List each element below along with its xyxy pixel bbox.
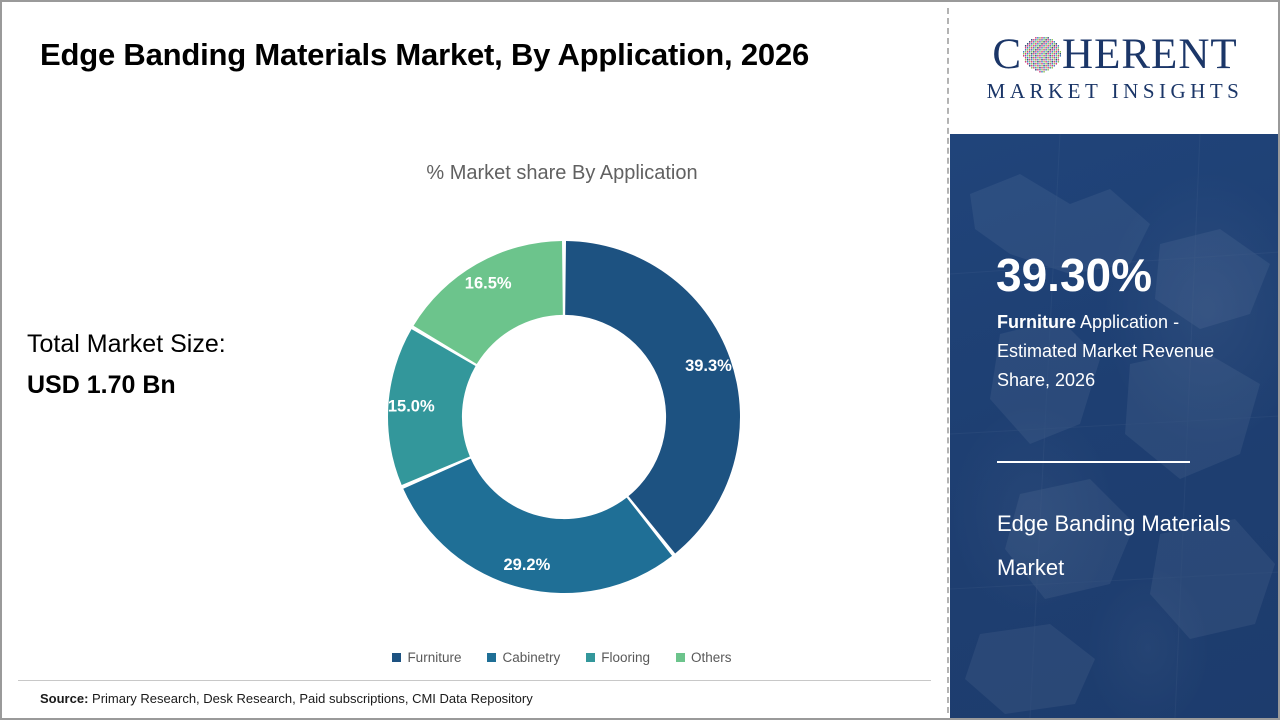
legend-swatch-icon: [392, 653, 401, 662]
donut-slice-label: 39.3%: [685, 357, 732, 375]
panel-divider: [947, 8, 949, 713]
chart-legend: FurnitureCabinetryFlooringOthers: [302, 650, 822, 665]
brand-logo: C HERENT MARKET INSIGHTS: [950, 2, 1280, 134]
logo-word-herent: HERENT: [1062, 33, 1238, 76]
right-sidebar: C HERENT MARKET INSIGHTS: [950, 2, 1280, 718]
total-market-size-value: USD 1.70 Bn: [27, 365, 226, 406]
source-note: Source: Primary Research, Desk Research,…: [40, 691, 533, 706]
infographic-page: Edge Banding Materials Market, By Applic…: [0, 0, 1280, 720]
legend-item: Others: [676, 650, 732, 665]
legend-swatch-icon: [586, 653, 595, 662]
total-market-size-label: Total Market Size:: [27, 324, 226, 365]
legend-item: Flooring: [586, 650, 650, 665]
donut-slice: [565, 241, 740, 553]
left-content-panel: Edge Banding Materials Market, By Applic…: [2, 2, 947, 718]
panel-divider-rule: [997, 461, 1190, 463]
world-map-texture: [950, 134, 1280, 718]
globe-icon: [1023, 35, 1061, 73]
source-divider: [18, 680, 931, 681]
donut-slice-label: 16.5%: [465, 274, 512, 292]
stat-percent-value: 39.30%: [996, 252, 1152, 298]
panel-market-name: Edge Banding Materials Market: [997, 502, 1257, 589]
source-text: Primary Research, Desk Research, Paid su…: [88, 691, 532, 706]
donut-chart: 39.3%29.2%15.0%16.5%: [380, 233, 748, 601]
donut-slice-label: 29.2%: [503, 556, 550, 574]
donut-slice-group: [388, 241, 740, 593]
page-title: Edge Banding Materials Market, By Applic…: [40, 30, 910, 80]
stat-description: Furniture Application - Estimated Market…: [997, 308, 1247, 395]
donut-slice-label: 15.0%: [388, 398, 435, 416]
legend-label: Cabinetry: [502, 650, 560, 665]
legend-label: Furniture: [407, 650, 461, 665]
legend-swatch-icon: [487, 653, 496, 662]
logo-wordmark: C HERENT: [992, 33, 1237, 76]
total-market-size: Total Market Size: USD 1.70 Bn: [27, 324, 226, 405]
logo-letter-c: C: [992, 33, 1022, 76]
donut-chart-svg: 39.3%29.2%15.0%16.5%: [380, 233, 748, 601]
source-label: Source:: [40, 691, 88, 706]
legend-swatch-icon: [676, 653, 685, 662]
logo-tagline: MARKET INSIGHTS: [987, 79, 1244, 104]
legend-item: Furniture: [392, 650, 461, 665]
legend-item: Cabinetry: [487, 650, 560, 665]
stat-panel: 39.30% Furniture Application - Estimated…: [950, 134, 1280, 718]
legend-label: Flooring: [601, 650, 650, 665]
stat-highlight: Furniture: [997, 312, 1076, 332]
legend-label: Others: [691, 650, 732, 665]
chart-subtitle: % Market share By Application: [302, 162, 822, 185]
